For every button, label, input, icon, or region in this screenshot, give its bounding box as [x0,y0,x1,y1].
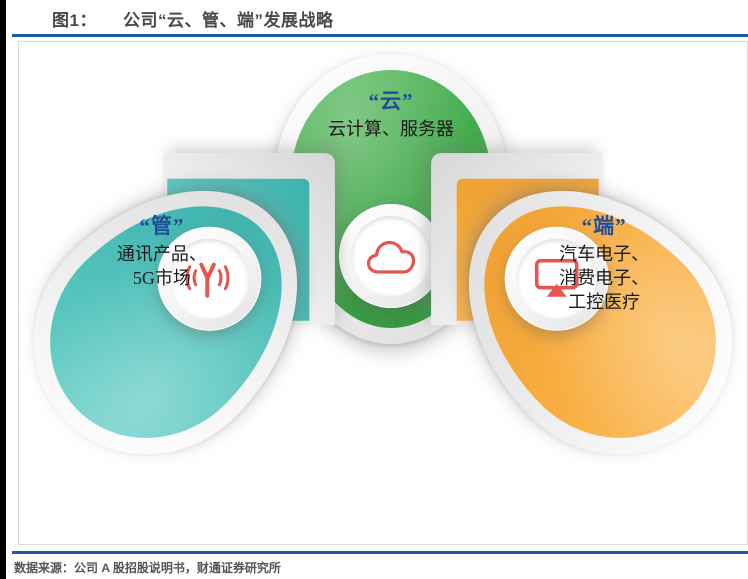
pin-pipe[interactable]: “管” 通讯产品、 5G市场 [18,134,354,503]
pin-terminal-text: “端” 汽车电子、 消费电子、 工控医疗 [488,213,720,314]
page-title: 图1：公司“云、管、端”发展战略 [52,6,333,31]
header-rule [12,34,748,37]
footer-rule [12,551,748,554]
pin-terminal-line-1: 汽车电子、 [488,243,720,266]
pin-cloud-key-label: “云” [275,88,507,115]
pin-pipe-desc: 通讯产品、 5G市场 [46,243,278,290]
pin-terminal[interactable]: “端” 汽车电子、 消费电子、 工控医疗 [412,134,748,503]
cloud-icon [366,237,416,275]
pin-terminal-line-3: 工控医疗 [488,291,720,314]
pin-cloud-medallion-inner [351,216,431,296]
pin-pipe-text: “管” 通讯产品、 5G市场 [46,213,278,290]
pin-cloud-desc: 云计算、服务器 [275,118,507,141]
pin-terminal-line-2: 消费电子、 [488,267,720,290]
pin-terminal-key-label: “端” [488,213,720,240]
pin-terminal-desc: 汽车电子、 消费电子、 工控医疗 [488,243,720,314]
figure-canvas: “云” 云计算、服务器 [18,41,748,545]
diagram-stage: “云” 云计算、服务器 [19,42,747,544]
source-note: 数据来源：公司 A 股招股说明书，财通证券研究所 [14,559,281,576]
pin-cloud-line-1: 云计算、服务器 [275,118,507,141]
figure-title-text: 公司“云、管、端”发展战略 [123,11,334,30]
figure-header: 图1：公司“云、管、端”发展战略 [12,0,748,36]
figure-page: 图1：公司“云、管、端”发展战略 “云” 云计算、服务器 [0,0,748,579]
pin-cloud-text: “云” 云计算、服务器 [275,88,507,141]
pin-pipe-key-label: “管” [46,213,278,240]
pin-pipe-line-2: 5G市场 [46,267,278,290]
pin-pipe-line-1: 通讯产品、 [46,243,278,266]
figure-number: 图1： [52,11,97,30]
